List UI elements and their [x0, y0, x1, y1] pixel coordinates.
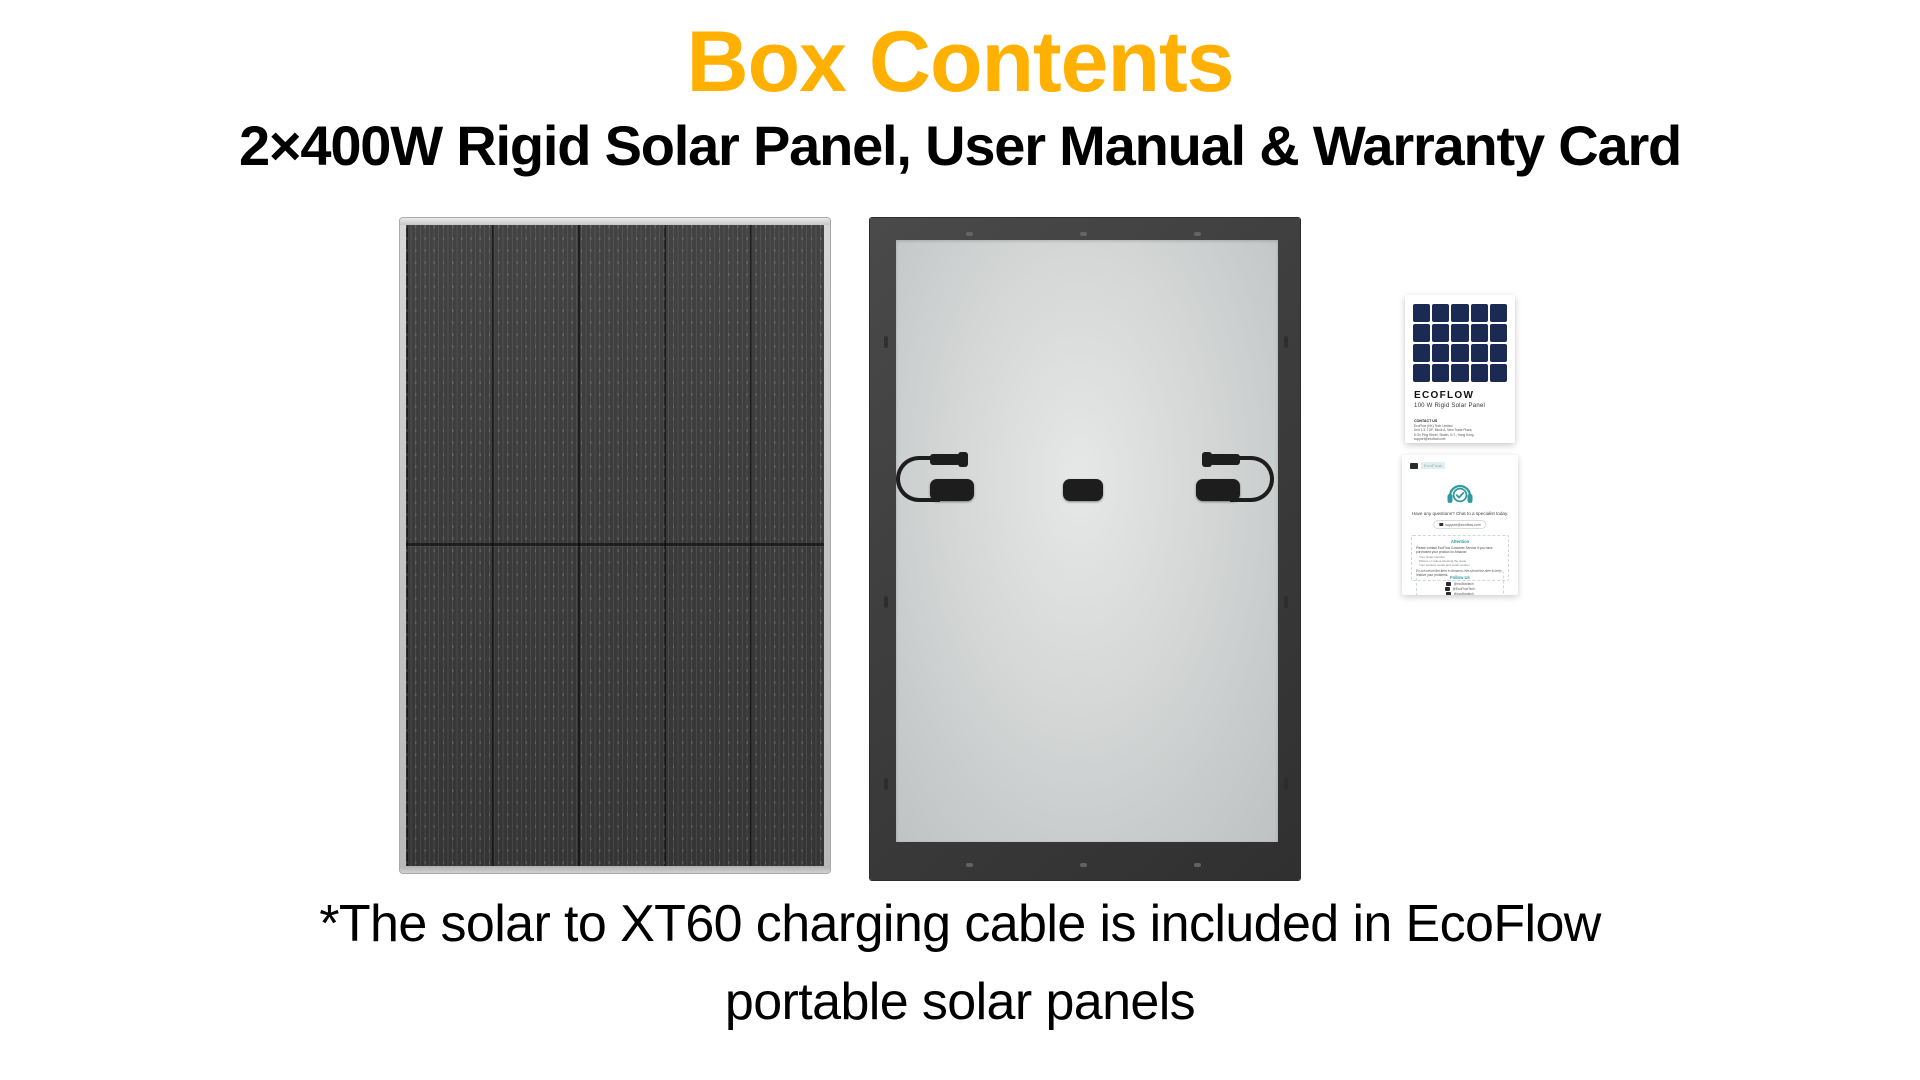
panel-back-mount-slot	[884, 336, 888, 348]
headset-check-icon	[1445, 481, 1475, 507]
follow-handle: @ecoflowtech	[1454, 592, 1474, 596]
follow-row[interactable]: @ecoflowtech	[1421, 592, 1499, 596]
solar-panel-front-image	[400, 218, 830, 873]
manual-contact-line: support@ecoflow.com	[1414, 437, 1474, 441]
mc4-connector-tip-right	[1202, 452, 1212, 467]
panel-back-screw	[966, 863, 973, 867]
manual-contact-label: CONTACT US	[1414, 419, 1437, 423]
page-title: Box Contents	[0, 0, 1920, 110]
user-manual-image: ECOFLOW 100 W Rigid Solar Panel CONTACT …	[1405, 295, 1515, 443]
panel-back-backsheet	[896, 240, 1278, 842]
warranty-card-image: EcoFlow Have any questions? Chat to a sp…	[1402, 455, 1518, 595]
panel-front-frame-top	[400, 218, 830, 225]
page-subtitle: 2×400W Rigid Solar Panel, User Manual & …	[0, 110, 1920, 178]
warranty-email-pill[interactable]: support@ecoflow.com	[1433, 520, 1486, 529]
twitter-icon	[1445, 587, 1450, 592]
footnote-line-2: portable solar panels	[0, 963, 1920, 1041]
slide-header: Box Contents 2×400W Rigid Solar Panel, U…	[0, 0, 1920, 178]
warranty-brand-logo: EcoFlow	[1410, 462, 1445, 469]
warranty-question-text: Have any questions? Chat to a specialist…	[1402, 511, 1518, 516]
panel-back-mount-slot	[884, 778, 888, 790]
panel-front-row-divider	[406, 543, 824, 546]
warranty-attention-line: Your product model and serial number	[1416, 563, 1504, 567]
panel-back-screw	[1080, 232, 1087, 236]
panel-back-screw	[1080, 863, 1087, 867]
warranty-follow-block: Follow Us @ecoflowtech @EcoFlowTech @eco…	[1416, 571, 1504, 595]
cable-loop-right	[1230, 456, 1274, 502]
cable-loop-left	[896, 456, 940, 502]
manual-product-line: 100 W Rigid Solar Panel	[1414, 403, 1485, 409]
panel-back-mount-slot	[1284, 778, 1288, 790]
footnote-line-1: *The solar to XT60 charging cable is inc…	[0, 885, 1920, 963]
product-image-stage: ECOFLOW 100 W Rigid Solar Panel CONTACT …	[0, 210, 1920, 890]
warranty-attention-title: Attention	[1416, 539, 1504, 544]
footnote: *The solar to XT60 charging cable is inc…	[0, 885, 1920, 1041]
manual-contact-lines: EcoFlow (HK) Tech Limited Unit 1-3, 12/F…	[1414, 424, 1474, 442]
panel-back-mount-slot	[1284, 336, 1288, 348]
panel-back-screw	[966, 232, 973, 236]
facebook-icon	[1446, 582, 1451, 587]
mc4-connector-tip-left	[958, 452, 968, 467]
panel-front-cell-surface	[406, 225, 824, 866]
junction-box-center	[1063, 479, 1103, 501]
ecoflow-mark-icon	[1410, 463, 1418, 469]
panel-back-mount-slot	[1284, 596, 1288, 608]
panel-back-mount-slot	[884, 596, 888, 608]
warranty-logo-word: EcoFlow	[1421, 462, 1445, 469]
instagram-icon	[1446, 592, 1451, 595]
mail-icon	[1439, 523, 1443, 526]
panel-back-screw	[1194, 863, 1201, 867]
warranty-email-text: support@ecoflow.com	[1445, 523, 1480, 527]
panel-front-frame-bottom	[400, 866, 830, 873]
warranty-attention-line: Please contact EcoFlow Customer Service …	[1416, 546, 1504, 555]
solar-panel-back-image	[870, 218, 1300, 880]
manual-brand-logo: ECOFLOW	[1414, 390, 1474, 401]
panel-back-screw	[1194, 232, 1201, 236]
warranty-follow-title: Follow Us	[1421, 575, 1499, 580]
manual-cover-cell-grid	[1413, 304, 1507, 382]
